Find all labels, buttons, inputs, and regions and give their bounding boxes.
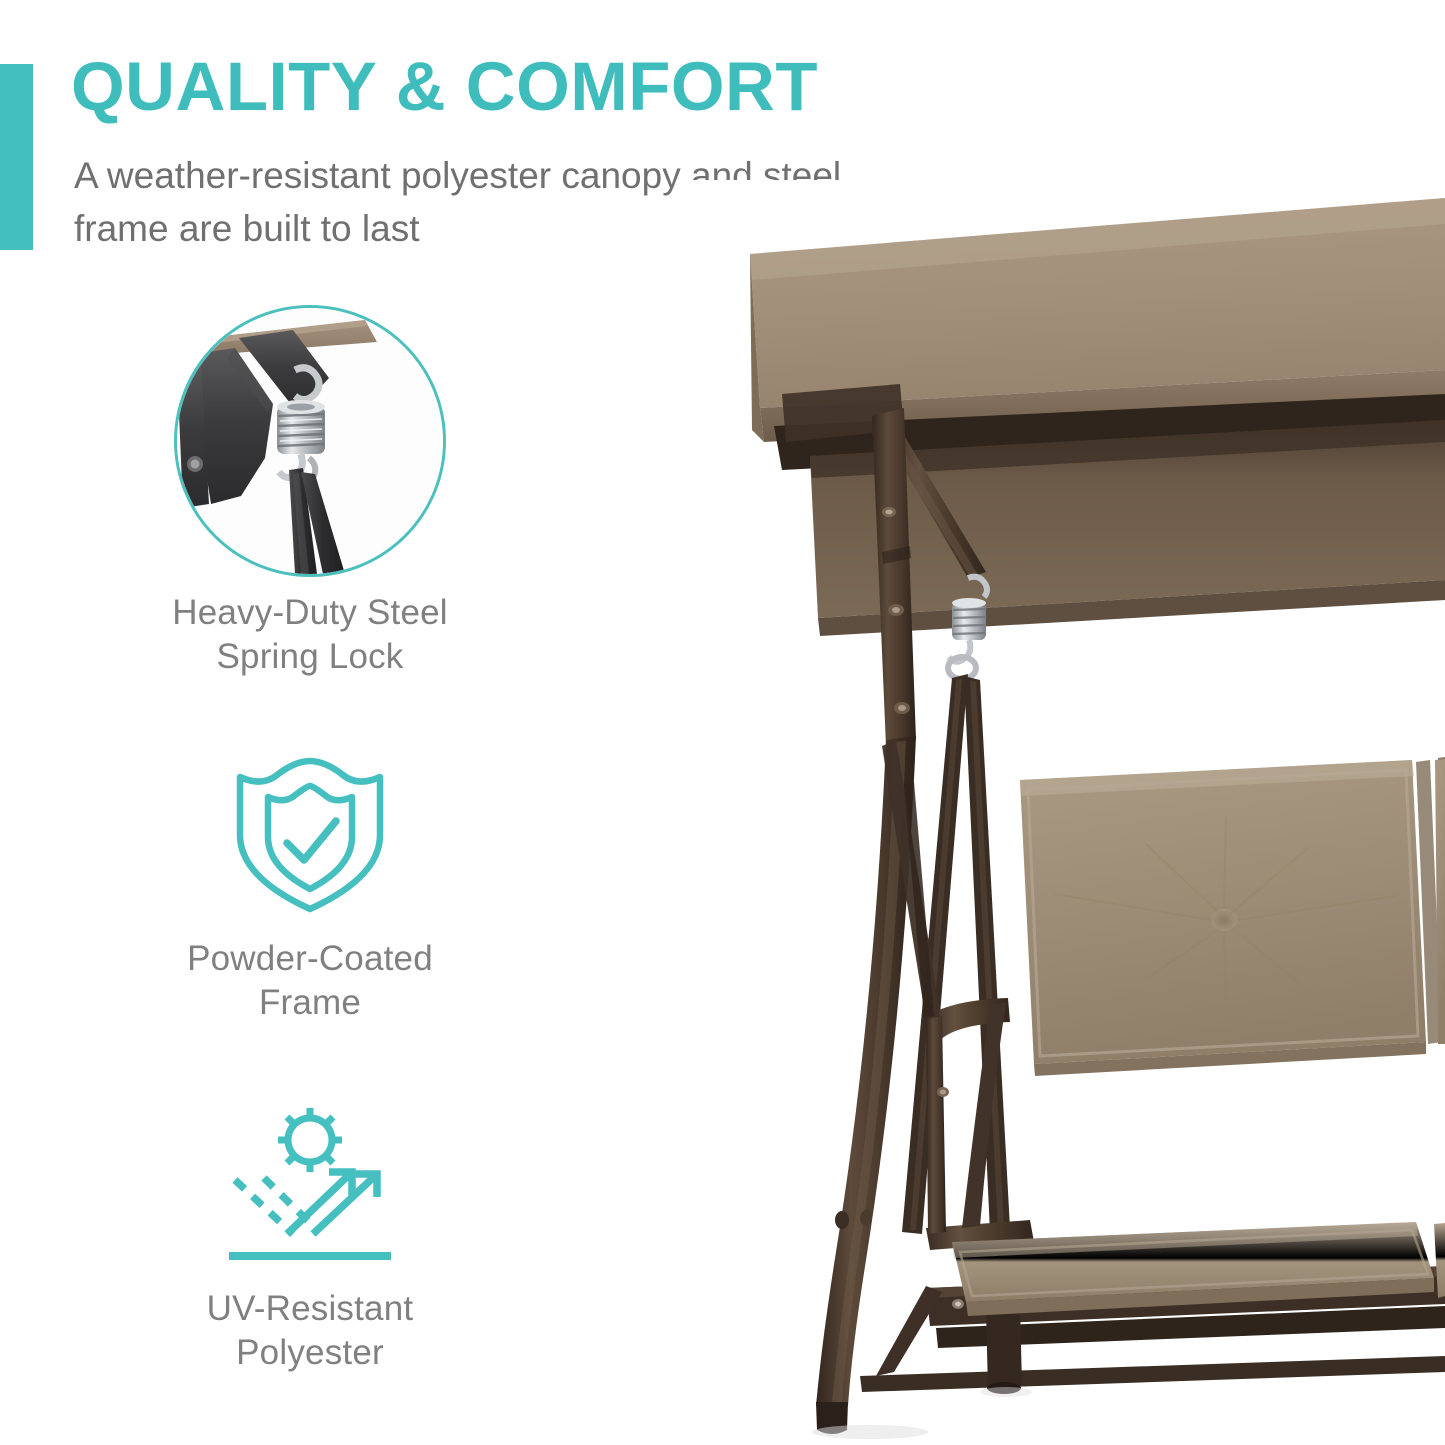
feature-label: UV-Resistant Polyester [75, 1287, 545, 1375]
feature-label-line-2: Spring Lock [75, 635, 545, 679]
spring-lock-photo-inset [174, 305, 446, 577]
feature-panel: QUALITY & COMFORT A weather-resistant po… [0, 0, 1445, 1445]
product-photo-porch-swing [690, 180, 1445, 1445]
porch-swing-illustration [690, 180, 1445, 1445]
spring-lock-photograph [177, 308, 443, 574]
feature-media [75, 755, 545, 923]
feature-media [75, 1108, 545, 1273]
feature-label-line-2: Frame [75, 981, 545, 1025]
feature-powder-coated-frame: Powder-Coated Frame [75, 755, 545, 1025]
shield-check-icon [230, 755, 390, 923]
feature-uv-resistant-polyester: UV-Resistant Polyester [75, 1108, 545, 1375]
feature-label-line-1: UV-Resistant [75, 1287, 545, 1331]
feature-label: Powder-Coated Frame [75, 937, 545, 1025]
feature-label: Heavy-Duty Steel Spring Lock [75, 591, 545, 679]
feature-label-line-2: Polyester [75, 1331, 545, 1375]
page-title: QUALITY & COMFORT [71, 52, 951, 121]
feature-spring-lock: Heavy-Duty Steel Spring Lock [75, 305, 545, 679]
accent-bar [0, 64, 33, 250]
feature-label-line-1: Powder-Coated [75, 937, 545, 981]
feature-media [75, 305, 545, 577]
feature-label-line-1: Heavy-Duty Steel [75, 591, 545, 635]
uv-sun-deflect-icon [221, 1108, 399, 1273]
